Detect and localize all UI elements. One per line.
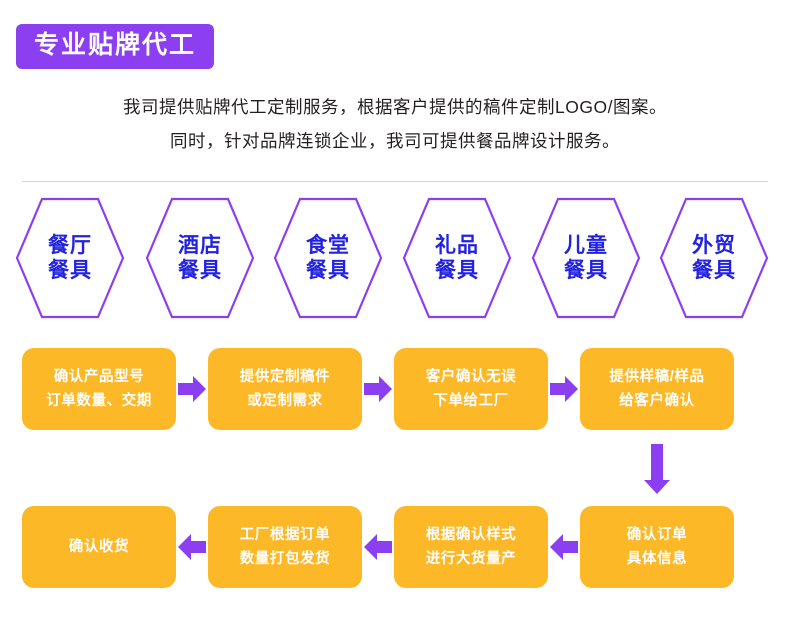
category-hex-label: 餐厅 餐具 <box>14 196 126 320</box>
flow-step-5[interactable]: 确认订单 具体信息 <box>580 506 734 588</box>
category-label-line2: 餐具 <box>48 258 92 283</box>
category-label-line1: 外贸 <box>692 233 736 258</box>
flow-step-6[interactable]: 根据确认样式 进行大货量产 <box>394 506 548 588</box>
category-label-line2: 餐具 <box>435 258 479 283</box>
arrow-right-icon-2 <box>364 376 392 402</box>
arrow-right-icon-1 <box>178 376 206 402</box>
flow-step-line2: 进行大货量产 <box>426 547 517 571</box>
flow-step-line1: 根据确认样式 <box>426 523 517 547</box>
arrow-right-icon-3 <box>550 376 578 402</box>
intro-line-2: 同时，针对品牌连锁企业，我司可提供餐品牌设计服务。 <box>0 124 790 158</box>
category-hex-label: 食堂 餐具 <box>272 196 384 320</box>
category-label-line2: 餐具 <box>306 258 350 283</box>
category-hex-label: 外贸 餐具 <box>658 196 770 320</box>
category-label-line1: 餐厅 <box>48 233 92 258</box>
category-label-line2: 餐具 <box>178 258 222 283</box>
category-hex-export[interactable]: 外贸 餐具 <box>658 196 770 320</box>
flow-step-line1: 客户确认无误 <box>426 365 517 389</box>
section-divider <box>22 181 768 182</box>
flow-step-line1: 确认订单 <box>627 523 687 547</box>
category-hex-label: 酒店 餐具 <box>144 196 256 320</box>
flow-step-line2: 数量打包发货 <box>240 547 331 571</box>
category-label-line2: 餐具 <box>692 258 736 283</box>
category-hex-label: 儿童 餐具 <box>530 196 642 320</box>
category-hex-children[interactable]: 儿童 餐具 <box>530 196 642 320</box>
category-label-line1: 食堂 <box>306 233 350 258</box>
category-hex-hotel[interactable]: 酒店 餐具 <box>144 196 256 320</box>
flow-step-4[interactable]: 提供样稿/样品 给客户确认 <box>580 348 734 430</box>
flow-step-7[interactable]: 工厂根据订单 数量打包发货 <box>208 506 362 588</box>
flow-step-line2: 下单给工厂 <box>433 389 509 413</box>
category-hex-row: 餐厅 餐具 酒店 餐具 食堂 餐具 礼品 餐具 <box>14 196 779 320</box>
flow-step-1[interactable]: 确认产品型号 订单数量、交期 <box>22 348 176 430</box>
flow-step-line1: 确认收货 <box>69 535 129 559</box>
arrow-left-icon-1 <box>550 534 578 560</box>
arrow-left-icon-2 <box>364 534 392 560</box>
category-hex-label: 礼品 餐具 <box>401 196 513 320</box>
category-label-line1: 酒店 <box>178 233 222 258</box>
category-label-line1: 儿童 <box>564 233 608 258</box>
category-hex-gift[interactable]: 礼品 餐具 <box>401 196 513 320</box>
page-title-badge: 专业贴牌代工 <box>16 24 214 69</box>
category-hex-canteen[interactable]: 食堂 餐具 <box>272 196 384 320</box>
flow-step-line2: 具体信息 <box>627 547 687 571</box>
flow-step-line1: 确认产品型号 <box>54 365 145 389</box>
arrow-left-icon-3 <box>178 534 206 560</box>
flow-step-2[interactable]: 提供定制稿件 或定制需求 <box>208 348 362 430</box>
category-hex-restaurant[interactable]: 餐厅 餐具 <box>14 196 126 320</box>
intro-paragraph: 我司提供贴牌代工定制服务，根据客户提供的稿件定制LOGO/图案。 同时，针对品牌… <box>0 90 790 158</box>
flow-step-3[interactable]: 客户确认无误 下单给工厂 <box>394 348 548 430</box>
flow-step-line2: 订单数量、交期 <box>46 389 152 413</box>
arrow-down-icon <box>644 444 670 494</box>
flow-step-line1: 提供定制稿件 <box>240 365 331 389</box>
intro-line-1: 我司提供贴牌代工定制服务，根据客户提供的稿件定制LOGO/图案。 <box>0 90 790 124</box>
flow-step-line2: 给客户确认 <box>619 389 695 413</box>
category-label-line2: 餐具 <box>564 258 608 283</box>
flow-step-line1: 提供样稿/样品 <box>609 365 704 389</box>
flow-step-8[interactable]: 确认收货 <box>22 506 176 588</box>
category-label-line1: 礼品 <box>435 233 479 258</box>
flow-step-line1: 工厂根据订单 <box>240 523 331 547</box>
flow-step-line2: 或定制需求 <box>247 389 323 413</box>
